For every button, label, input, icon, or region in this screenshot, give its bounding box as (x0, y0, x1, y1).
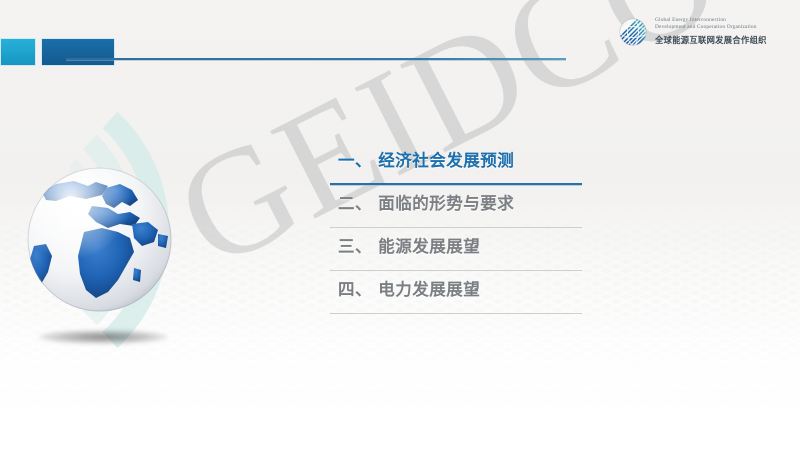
agenda-item-4-underline (330, 313, 582, 314)
agenda-item-2-label: 二、 面临的形势与要求 (338, 190, 514, 214)
accent-block-cyan (0, 38, 36, 66)
agenda-item-4[interactable]: 四、 电力发展展望 (330, 271, 582, 314)
geidco-globe-emblem (618, 17, 648, 47)
agenda-item-1-label: 一、 经济社会发展预测 (338, 147, 514, 171)
agenda-list: 一、 经济社会发展预测 二、 面临的形势与要求 三、 能源发展展望 四、 电力发… (330, 142, 582, 314)
agenda-item-3-label: 三、 能源发展展望 (338, 233, 480, 257)
logo-text-block: Global Energy Interconnection Developmen… (655, 16, 767, 46)
logo-english-line-1: Global Energy Interconnection (655, 17, 767, 24)
logo-chinese-name: 全球能源互联网发展合作组织 (655, 34, 767, 46)
globe-drop-shadow (38, 330, 168, 344)
agenda-item-1[interactable]: 一、 经济社会发展预测 (330, 142, 582, 185)
agenda-item-3[interactable]: 三、 能源发展展望 (330, 228, 582, 271)
earth-globe-graphic (22, 162, 177, 317)
agenda-item-2[interactable]: 二、 面临的形势与要求 (330, 185, 582, 228)
presentation-slide: GEIDCO (0, 0, 800, 450)
agenda-item-4-label: 四、 电力发展展望 (338, 276, 480, 300)
accent-block-blue (41, 38, 115, 66)
geidco-logo: Global Energy Interconnection Developmen… (618, 16, 790, 56)
header-rule-shadow (66, 60, 566, 61)
logo-english-line-2: Development and Cooperation Organization (655, 24, 767, 31)
globe-graphic-wrapper (22, 162, 187, 372)
